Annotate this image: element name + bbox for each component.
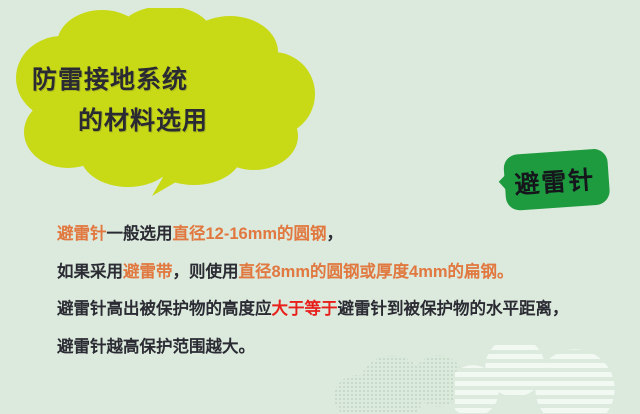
poster-canvas: 防雷接地系统 的材料选用 避雷针 避雷针一般选用直径12-16mm的圆钢， 如果… (0, 0, 640, 414)
body-line-2: 如果采用避雷带，则使用直径8mm的圆钢或厚度4mm的扁钢。 (57, 254, 637, 292)
line-3-segment-2: 大于等于 (272, 300, 338, 318)
line-2-segment-1: 如果采用 (57, 263, 123, 281)
tag-bubble-label: 避雷针 (502, 159, 608, 202)
line-2-segment-2: 避雷带 (123, 263, 173, 281)
title-speech-bubble: 防雷接地系统 的材料选用 (2, 8, 322, 208)
line-3-segment-1: 避雷针高出被保护物的高度应 (57, 300, 272, 318)
body-line-4: 避雷针越高保护范围越大。 (57, 329, 637, 367)
body-text-block: 避雷针一般选用直径12-16mm的圆钢， 如果采用避雷带，则使用直径8mm的圆钢… (57, 216, 637, 366)
line-1-segment-1: 避雷针 (57, 225, 107, 243)
title-text-block: 防雷接地系统 的材料选用 (2, 8, 322, 208)
line-4-segment-1: 避雷针越高保护范围越大。 (57, 338, 255, 356)
tag-speech-bubble: 避雷针 (485, 144, 620, 225)
line-2-segment-4: 直径8mm的圆钢或厚度4mm的扁钢。 (239, 263, 514, 281)
line-3-segment-3: 避雷针到被保护物的水平距离， (338, 300, 569, 318)
line-1-segment-2: 一般选用 (107, 225, 173, 243)
line-1-segment-4: ， (327, 225, 344, 243)
body-line-3: 避雷针高出被保护物的高度应大于等于避雷针到被保护物的水平距离， (57, 291, 637, 329)
title-line-1: 防雷接地系统 (32, 60, 188, 96)
body-line-1: 避雷针一般选用直径12-16mm的圆钢， (57, 216, 637, 254)
line-1-segment-3: 直径12-16mm的圆钢 (173, 225, 327, 243)
title-line-2: 的材料选用 (78, 101, 208, 137)
line-2-segment-3: ，则使用 (173, 263, 239, 281)
